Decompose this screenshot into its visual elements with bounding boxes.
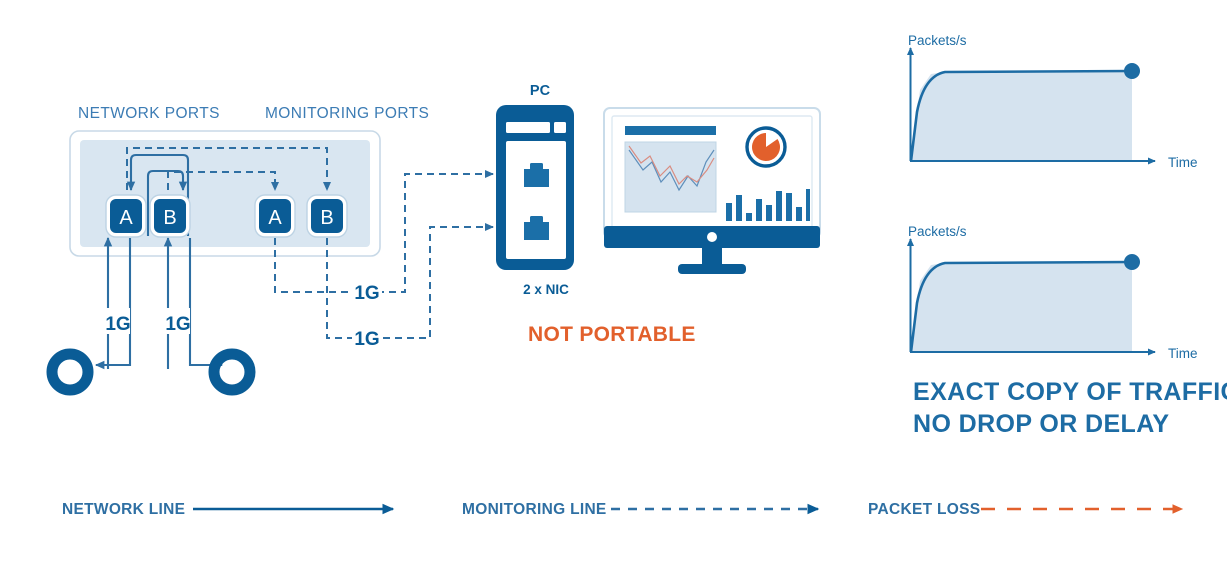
monitor bbox=[604, 108, 820, 274]
pc-drive-slot bbox=[506, 122, 550, 133]
chart-top: Packets/s Time bbox=[908, 33, 1198, 170]
speed-label-mon-2: 1G bbox=[354, 329, 379, 350]
network-circle-left bbox=[52, 354, 88, 390]
diagram-canvas: A B A B NETWORK PORTS MONITORING PORTS 1… bbox=[0, 0, 1227, 564]
port-net-b-label: B bbox=[163, 207, 176, 229]
pc-power-led bbox=[554, 122, 566, 133]
chart-top-endpoint-marker bbox=[1124, 63, 1140, 79]
port-mon-b[interactable]: B bbox=[307, 195, 347, 237]
conclusion-line-2: NO DROP OR DELAY bbox=[913, 410, 1169, 438]
monitor-stand-neck bbox=[702, 248, 722, 266]
chart-bottom-xlabel: Time bbox=[1168, 346, 1198, 361]
speed-label-net-1: 1G bbox=[105, 314, 130, 335]
chart-top-area bbox=[911, 71, 1132, 161]
port-net-a-label: A bbox=[119, 207, 133, 229]
conclusion-line-1: EXACT COPY OF TRAFFIC bbox=[913, 378, 1227, 406]
port-mon-b-label: B bbox=[320, 207, 333, 229]
monitoring-ports-heading: MONITORING PORTS bbox=[265, 105, 429, 122]
legend-item-monitoring-line: MONITORING LINE bbox=[462, 501, 818, 518]
legend-item-network-line: NETWORK LINE bbox=[62, 501, 393, 518]
pc-nic-label: 2 x NIC bbox=[523, 282, 569, 297]
chart-bottom-ylabel: Packets/s bbox=[908, 224, 967, 239]
pie-chart-icon bbox=[747, 128, 785, 166]
port-mon-a[interactable]: A bbox=[255, 195, 295, 237]
network-endpoint-circles bbox=[52, 354, 250, 390]
legend-label-network-line: NETWORK LINE bbox=[62, 501, 185, 518]
chart-top-ylabel: Packets/s bbox=[908, 33, 967, 48]
speed-label-mon-1: 1G bbox=[354, 283, 379, 304]
legend: NETWORK LINE MONITORING LINE PACKET LOSS bbox=[62, 501, 1182, 518]
legend-label-monitoring-line: MONITORING LINE bbox=[462, 501, 607, 518]
network-line-left-out bbox=[96, 238, 130, 365]
pc-panel bbox=[506, 141, 566, 259]
pc-tower bbox=[496, 105, 574, 270]
line-chart-icon bbox=[625, 142, 716, 212]
monitor-stand-base bbox=[678, 264, 746, 274]
port-net-b[interactable]: B bbox=[150, 195, 190, 237]
chart-bottom-endpoint-marker bbox=[1124, 254, 1140, 270]
legend-item-packet-loss: PACKET LOSS bbox=[868, 501, 1182, 518]
port-net-a[interactable]: A bbox=[106, 195, 146, 237]
chart-bottom-area bbox=[911, 262, 1132, 352]
pc-title: PC bbox=[530, 83, 551, 99]
not-portable-label: NOT PORTABLE bbox=[528, 323, 696, 346]
port-mon-a-label: A bbox=[268, 207, 282, 229]
network-circle-right bbox=[214, 354, 250, 390]
monitor-indicator-dot bbox=[707, 232, 717, 242]
network-ports-heading: NETWORK PORTS bbox=[78, 105, 220, 122]
legend-label-packet-loss: PACKET LOSS bbox=[868, 501, 980, 518]
speed-label-net-2: 1G bbox=[165, 314, 190, 335]
chart-top-xlabel: Time bbox=[1168, 155, 1198, 170]
screen-title-bar bbox=[625, 126, 716, 135]
network-tap-diagram: A B A B NETWORK PORTS MONITORING PORTS 1… bbox=[0, 0, 1227, 564]
chart-bottom: Packets/s Time bbox=[908, 224, 1198, 361]
network-line-right-out bbox=[190, 238, 222, 365]
